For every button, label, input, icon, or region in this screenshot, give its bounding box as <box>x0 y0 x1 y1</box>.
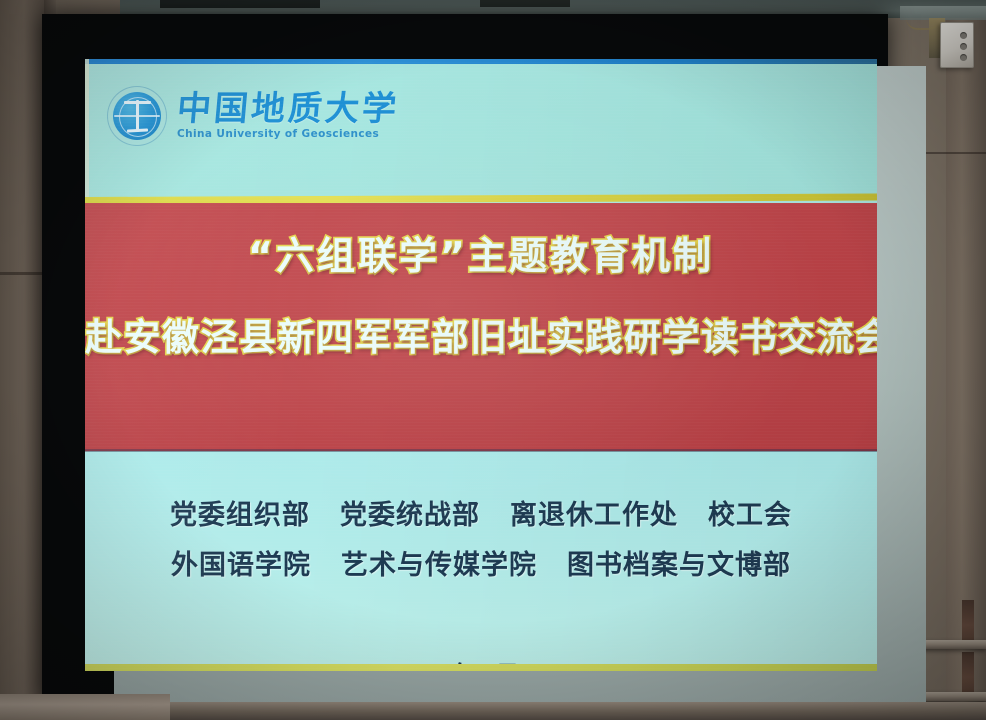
wall-niche-upper <box>962 600 974 642</box>
slide-top-accent-line <box>85 59 877 64</box>
slide-bottom-accent-line <box>85 664 877 671</box>
organizer-2: 党委统战部 <box>340 500 480 531</box>
logo-wordmark: 中国地质大学 China University of Geosciences <box>177 92 399 141</box>
presentation-slide: 中国地质大学 China University of Geosciences “… <box>85 59 877 671</box>
ceiling-shadow-left <box>160 0 320 8</box>
wall-control-panel[interactable] <box>940 22 974 68</box>
cug-circular-emblem-icon <box>107 86 167 146</box>
slide-title-line-1: “六组联学”主题教育机制 <box>85 211 877 301</box>
organizer-3: 离退休工作处 <box>510 500 678 531</box>
wall-panel-left <box>0 0 44 720</box>
wall-niche-lower <box>962 652 974 694</box>
room-scene: 中国地质大学 China University of Geosciences “… <box>0 0 986 720</box>
control-button-2[interactable] <box>960 43 967 50</box>
logo-name-english: China University of Geosciences <box>177 128 399 140</box>
ceiling-shadow-center <box>480 0 570 7</box>
floor-strip-left <box>0 694 170 720</box>
emblem-hammer-shaft <box>136 100 139 132</box>
organizer-5: 外国语学院 <box>171 550 311 581</box>
organizer-1: 党委组织部 <box>170 500 310 531</box>
organizer-6: 艺术与传媒学院 <box>341 550 537 581</box>
organizer-4: 校工会 <box>708 500 792 531</box>
organizer-7: 图书档案与文博部 <box>567 550 791 581</box>
control-button-1[interactable] <box>960 32 967 39</box>
organizer-row-2: 外国语学院艺术与传媒学院图书档案与文博部 <box>85 543 877 582</box>
slide-title-block: “六组联学”主题教育机制 赴安徽泾县新四军军部旧址实践研学读书交流会 <box>85 211 877 375</box>
logo-name-chinese: 中国地质大学 <box>175 92 400 128</box>
control-button-3[interactable] <box>960 54 967 61</box>
organizer-row-1: 党委组织部党委统战部离退休工作处校工会 <box>85 493 877 532</box>
slide-title-line-2: 赴安徽泾县新四军军部旧址实践研学读书交流会 <box>85 301 877 375</box>
university-logo: 中国地质大学 China University of Geosciences <box>107 86 399 146</box>
